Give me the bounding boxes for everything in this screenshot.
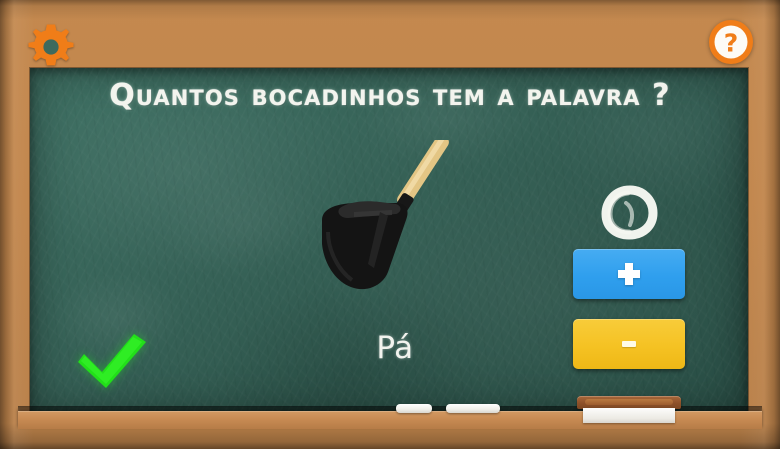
word-label: Pá: [280, 330, 510, 366]
minus-icon: [622, 341, 636, 347]
correct-feedback: [72, 330, 156, 392]
question-mark-icon: ?: [707, 18, 755, 66]
svg-text:?: ?: [724, 29, 739, 58]
chalk-stick-large[interactable]: [446, 404, 500, 413]
green-check-icon: [72, 330, 156, 392]
increase-button[interactable]: [573, 249, 685, 299]
eraser[interactable]: [577, 396, 681, 422]
decrease-button[interactable]: [573, 319, 685, 369]
eraser-felt: [583, 408, 675, 423]
shovel-icon: [288, 140, 498, 300]
game-screen: Quantos bocadinhos tem a palavra ? ?: [0, 0, 780, 449]
settings-button[interactable]: [24, 20, 78, 74]
counter-value-text: 0: [630, 212, 631, 213]
page-title: Quantos bocadinhos tem a palavra ?: [0, 78, 780, 113]
chalk-stick-small[interactable]: [396, 404, 432, 413]
gear-icon: [24, 20, 78, 74]
syllable-counter: 0: [588, 183, 672, 241]
help-button[interactable]: ?: [707, 18, 755, 66]
item-illustration: [288, 140, 498, 300]
plus-icon: [618, 263, 640, 285]
